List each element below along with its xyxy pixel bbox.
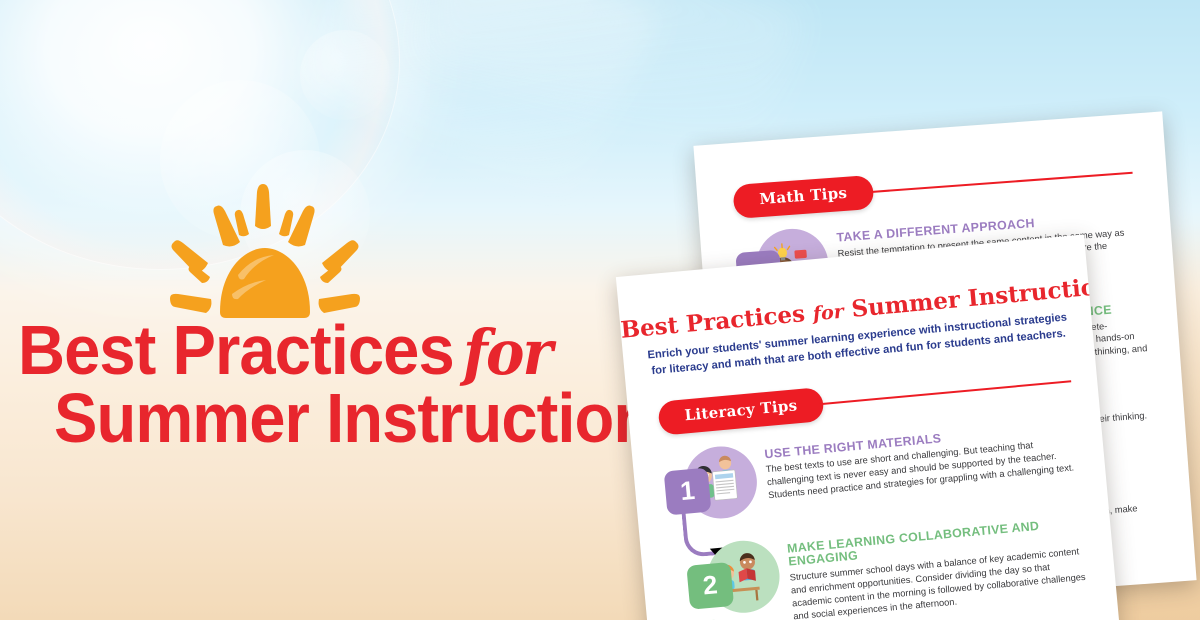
headline-for-word: for [454,316,551,389]
literacy-tip-number: 2 [686,562,734,610]
literacy-tips-banner-label: Literacy Tips [657,387,825,436]
literacy-tip-number: 1 [664,467,712,515]
students-at-desk-illustration: 2 [684,537,786,619]
literacy-tips-page[interactable]: Best Practices for Summer Instruction En… [616,235,1120,620]
bokeh-circle [300,30,390,120]
banner-rule [819,380,1071,404]
front-title-part2: Summer Instruction [850,272,1113,323]
sun-icon [160,180,370,330]
headline-line-1: Best Practices [18,311,454,389]
math-tips-banner-label: Math Tips [732,175,874,219]
front-title-for: for [812,301,845,326]
hero-headline: Best Practicesfor Summer Instruction [18,318,638,451]
banner-rule [869,172,1133,193]
light-ray [416,0,803,157]
headline-line-2: Summer Instruction [54,386,597,450]
light-ray [299,0,661,205]
